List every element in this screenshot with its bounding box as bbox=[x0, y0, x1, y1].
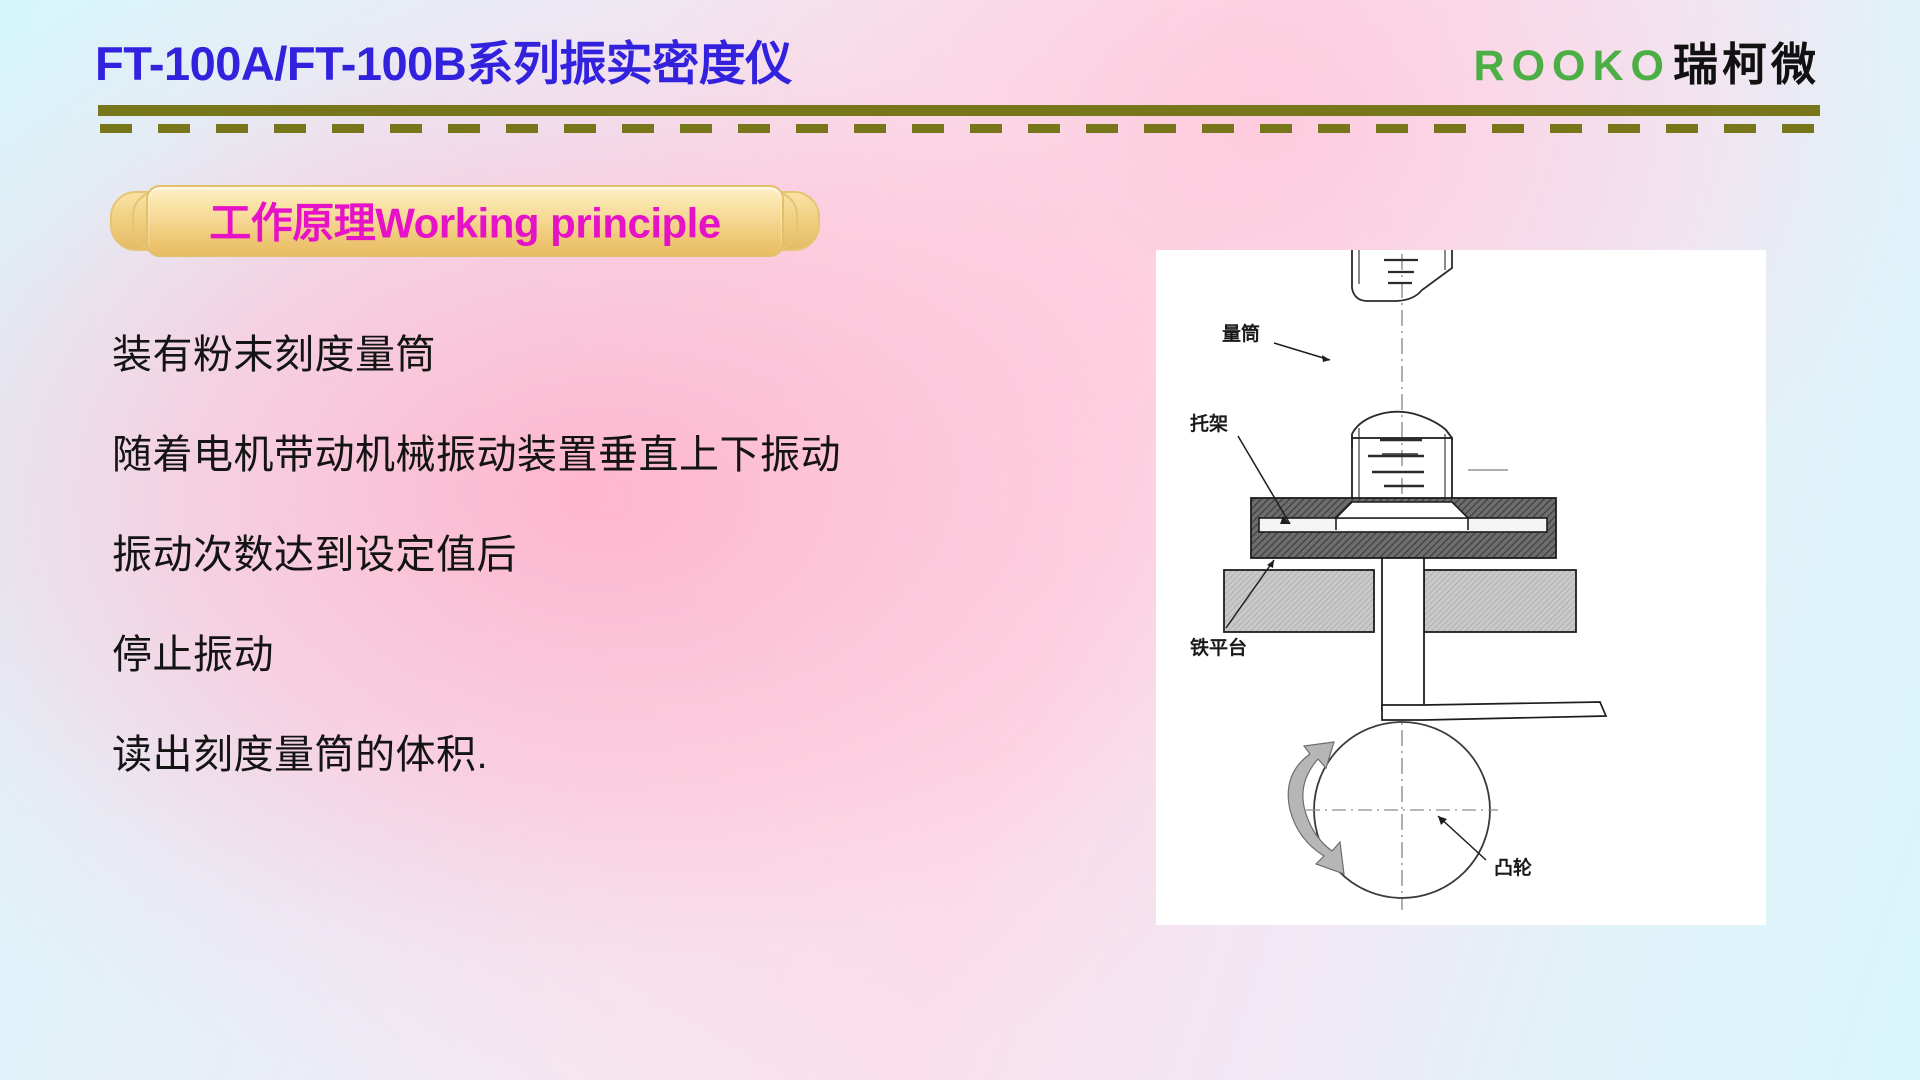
title-underline-rule bbox=[98, 105, 1820, 116]
diagram-illustration: 量筒 托架 铁平台 凸轮 bbox=[1156, 250, 1766, 925]
body-line-5: 读出刻度量筒的体积. bbox=[112, 735, 1072, 775]
diagram-label-cam: 凸轮 bbox=[1494, 856, 1532, 879]
section-banner: 工作原理Working principle bbox=[110, 185, 820, 257]
banner-label: 工作原理Working principle bbox=[110, 189, 820, 250]
body-line-4: 停止振动 bbox=[112, 635, 1072, 675]
brand-logo: ROOKO 瑞柯微 bbox=[1474, 42, 1820, 88]
cam-follower-arm bbox=[1382, 702, 1606, 720]
working-principle-diagram: 量筒 托架 铁平台 凸轮 bbox=[1156, 250, 1766, 925]
slide-header: FT-100A/FT-100B系列振实密度仪 ROOKO 瑞柯微 bbox=[0, 0, 1920, 140]
header-dashed-rule bbox=[100, 124, 1822, 133]
page-title: FT-100A/FT-100B系列振实密度仪 bbox=[95, 40, 792, 87]
diagram-label-cylinder: 量筒 bbox=[1222, 322, 1260, 345]
brand-chinese-text: 瑞柯微 bbox=[1673, 42, 1820, 87]
slide-canvas: FT-100A/FT-100B系列振实密度仪 ROOKO 瑞柯微 工作原理Wor… bbox=[0, 0, 1920, 1080]
diagram-label-iron-platform: 铁平台 bbox=[1190, 636, 1247, 659]
body-text-block: 装有粉末刻度量筒 随着电机带动机械振动装置垂直上下振动 振动次数达到设定值后 停… bbox=[112, 335, 1072, 835]
vertical-shaft bbox=[1382, 558, 1424, 710]
iron-platform-right bbox=[1424, 570, 1576, 632]
body-line-2: 随着电机带动机械振动装置垂直上下振动 bbox=[112, 435, 1072, 475]
body-line-1: 装有粉末刻度量筒 bbox=[112, 335, 1072, 375]
diagram-label-bracket: 托架 bbox=[1190, 413, 1228, 435]
body-line-3: 振动次数达到设定值后 bbox=[112, 535, 1072, 575]
bracket-block bbox=[1251, 498, 1556, 558]
iron-platform-left bbox=[1224, 570, 1374, 632]
brand-latin-text: ROOKO bbox=[1474, 45, 1671, 88]
